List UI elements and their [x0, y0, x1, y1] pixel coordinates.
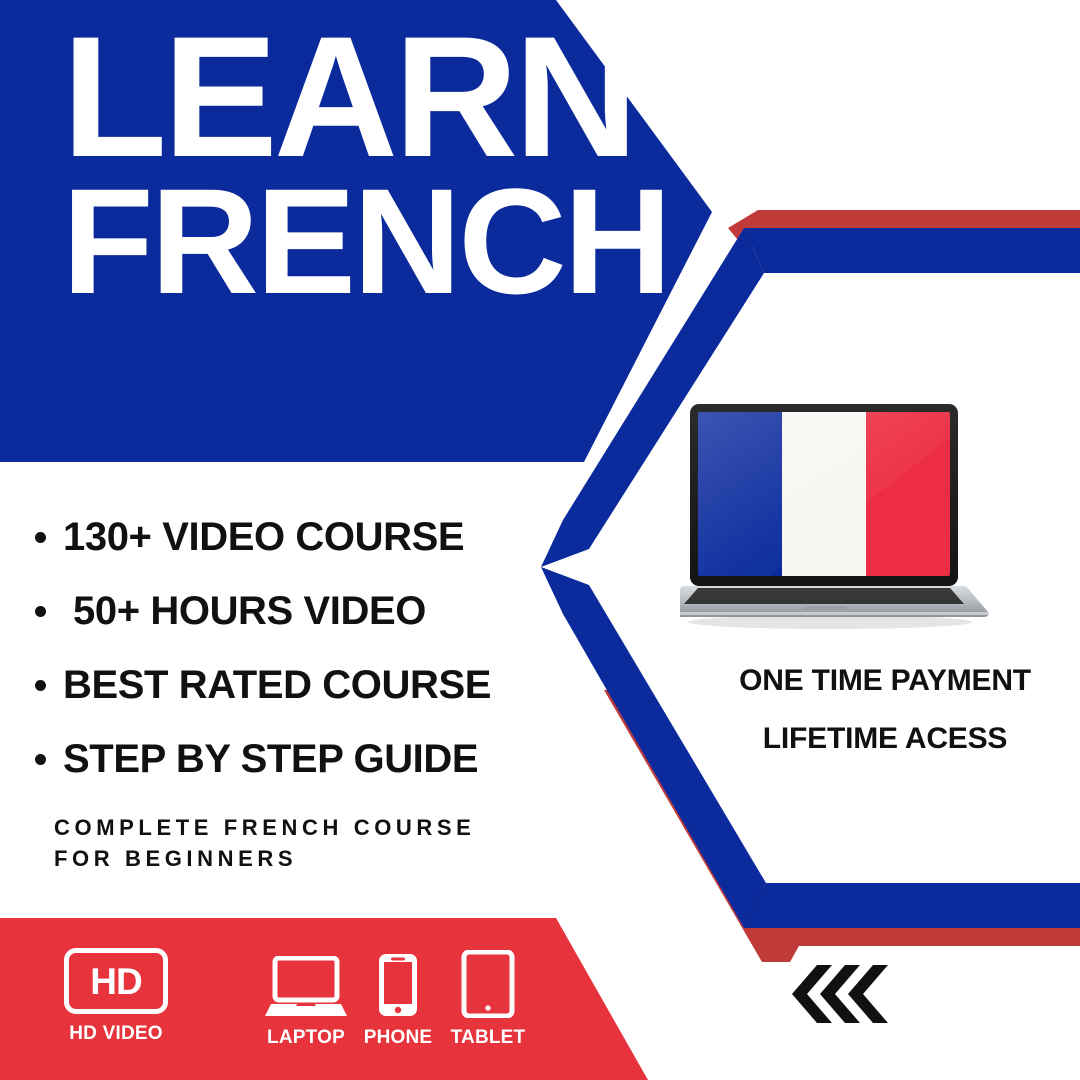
frame-blue-bottom-arm	[744, 883, 1080, 928]
laptop-keyboard	[684, 588, 964, 604]
device-strip: HD HD VIDEO LAPTOP	[0, 918, 660, 1080]
bullet-dot-icon	[35, 606, 46, 617]
supported-devices: LAPTOP PHONE	[258, 946, 534, 1049]
list-item: 130+ VIDEO COURSE	[24, 500, 524, 574]
bullet-dot-icon	[35, 680, 46, 691]
tablet-icon	[442, 946, 534, 1018]
laptop-screen	[698, 412, 950, 576]
phone-caption: PHONE	[354, 1027, 442, 1049]
headline-line-1: LEARN	[62, 22, 532, 173]
device-tablet: TABLET	[442, 946, 534, 1049]
hd-video-group: HD HD VIDEO	[60, 948, 172, 1045]
subtitle-line-1: COMPLETE FRENCH COURSE	[54, 812, 534, 843]
feature-label: 50+ HOURS VIDEO	[73, 589, 426, 634]
promo-poster: LEARN FRENCH 130+ VIDEO COURSE 50+ HOURS…	[0, 0, 1080, 1080]
hd-video-caption: HD VIDEO	[60, 1023, 172, 1045]
bullet-dot-icon	[35, 532, 46, 543]
headline-line-2: FRENCH	[62, 175, 532, 307]
feature-label: BEST RATED COURSE	[63, 663, 491, 708]
device-phone: PHONE	[354, 946, 442, 1049]
hd-badge-icon: HD	[64, 948, 168, 1014]
subtitle: COMPLETE FRENCH COURSE FOR BEGINNERS	[54, 812, 534, 874]
laptop-illustration	[680, 398, 1040, 638]
laptop-caption: LAPTOP	[258, 1027, 354, 1049]
laptop-icon-svg	[265, 956, 347, 1018]
laptop-trackpad-notch	[802, 606, 850, 610]
laptop-icon	[258, 946, 354, 1018]
list-item: STEP BY STEP GUIDE	[24, 722, 524, 796]
laptop-shadow	[688, 615, 972, 629]
frame-blue-top-arm	[744, 228, 1080, 273]
device-laptop: LAPTOP	[258, 946, 354, 1049]
payment-info: ONE TIME PAYMENT LIFETIME ACESS	[690, 666, 1080, 754]
feature-list: 130+ VIDEO COURSE 50+ HOURS VIDEO BEST R…	[24, 500, 524, 796]
bullet-dot-icon	[35, 754, 46, 765]
feature-label: 130+ VIDEO COURSE	[63, 515, 464, 560]
phone-icon-svg	[376, 952, 420, 1018]
list-item: 50+ HOURS VIDEO	[24, 574, 524, 648]
payment-line-1: ONE TIME PAYMENT	[690, 666, 1080, 696]
chevron-left-icon	[848, 965, 888, 1023]
tablet-icon-svg	[461, 950, 515, 1018]
payment-line-2: LIFETIME ACESS	[690, 724, 1080, 754]
laptop-base-highlight	[680, 612, 988, 615]
headline: LEARN FRENCH	[62, 22, 532, 307]
list-item: BEST RATED COURSE	[24, 648, 524, 722]
hd-badge-label: HD	[90, 963, 141, 1000]
subtitle-line-2: FOR BEGINNERS	[54, 843, 534, 874]
phone-icon	[354, 946, 442, 1018]
tablet-caption: TABLET	[442, 1027, 534, 1049]
feature-label: STEP BY STEP GUIDE	[63, 737, 478, 782]
chevron-left-arrows	[785, 963, 893, 1025]
